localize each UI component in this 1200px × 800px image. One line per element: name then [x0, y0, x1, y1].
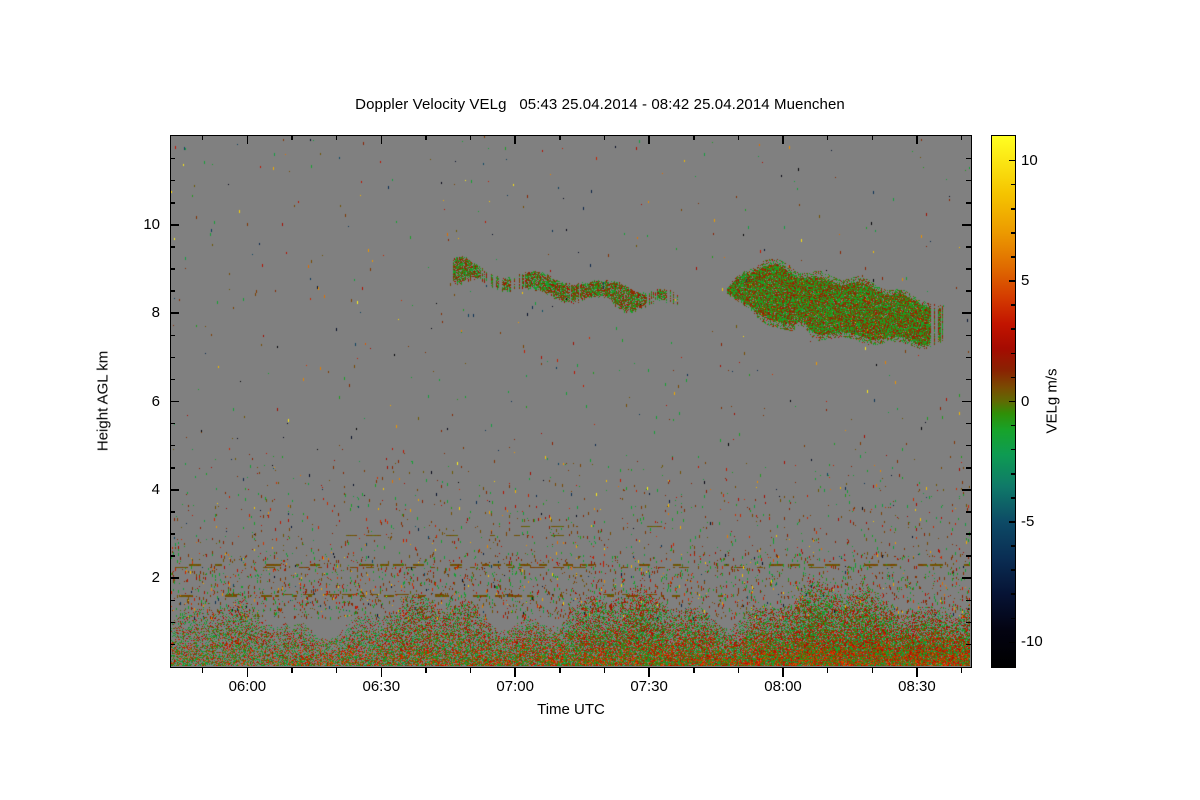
colorbar-minor-tick — [1011, 256, 1016, 258]
y-axis-minor-tick — [170, 423, 175, 425]
colorbar-minor-tick — [1011, 473, 1016, 475]
y-axis-tick-right — [962, 312, 971, 314]
y-axis-minor-tick — [170, 268, 175, 270]
colorbar-minor-tick — [1011, 328, 1016, 330]
colorbar-tick-label: -5 — [1021, 513, 1034, 530]
x-tick-label: 07:30 — [594, 678, 704, 695]
y-axis-minor-tick-right — [966, 246, 971, 248]
y-axis-minor-tick-right — [966, 158, 971, 160]
x-axis-minor-tick — [336, 668, 338, 673]
y-axis-minor-tick-right — [966, 357, 971, 359]
x-axis-minor-tick — [291, 668, 293, 673]
x-axis-minor-tick — [425, 668, 427, 673]
colorbar-minor-tick — [1011, 353, 1016, 355]
x-axis-minor-tick — [961, 668, 963, 673]
y-axis-minor-tick — [170, 622, 175, 624]
y-axis-minor-tick — [170, 290, 175, 292]
x-axis-tick — [648, 668, 650, 677]
colorbar-minor-tick — [1011, 618, 1016, 620]
x-axis-minor-tick-top — [872, 135, 874, 140]
y-axis-tick — [170, 224, 179, 226]
y-axis-minor-tick-right — [966, 379, 971, 381]
x-axis-minor-tick — [470, 668, 472, 673]
y-axis-minor-tick — [170, 335, 175, 337]
colorbar-tick — [1009, 401, 1016, 403]
x-axis-minor-tick-top — [827, 135, 829, 140]
page-title: Doppler Velocity VELg 05:43 25.04.2014 -… — [0, 96, 1200, 113]
colorbar-minor-tick — [1011, 232, 1016, 234]
colorbar-minor-tick — [1011, 593, 1016, 595]
colorbar-minor-tick — [1011, 184, 1016, 186]
x-axis-tick-top — [648, 135, 650, 144]
x-axis-tick — [916, 668, 918, 677]
y-axis-label: Height AGL km — [95, 351, 112, 451]
x-tick-label: 06:30 — [326, 678, 436, 695]
x-axis-tick — [514, 668, 516, 677]
y-axis-minor-tick-right — [966, 600, 971, 602]
colorbar-tick-label: 5 — [1021, 272, 1029, 289]
x-axis-minor-tick — [693, 668, 695, 673]
y-axis-minor-tick — [170, 180, 175, 182]
x-axis-minor-tick — [872, 668, 874, 673]
y-axis-minor-tick — [170, 357, 175, 359]
x-axis-minor-tick-top — [604, 135, 606, 140]
colorbar-tick — [1009, 160, 1016, 162]
x-axis-minor-tick-top — [202, 135, 204, 140]
y-axis-minor-tick — [170, 511, 175, 513]
y-axis-tick-right — [962, 224, 971, 226]
y-axis-minor-tick-right — [966, 555, 971, 557]
plot-area[interactable] — [170, 135, 972, 668]
x-tick-label: 08:00 — [728, 678, 838, 695]
y-axis-tick — [170, 577, 179, 579]
y-tick-label: 10 — [100, 216, 160, 233]
colorbar-minor-tick — [1011, 377, 1016, 379]
x-axis-tick-top — [916, 135, 918, 144]
y-axis-minor-tick — [170, 600, 175, 602]
radar-heatmap-canvas[interactable] — [171, 136, 970, 666]
y-axis-minor-tick — [170, 445, 175, 447]
x-axis-minor-tick-top — [336, 135, 338, 140]
y-tick-label: 8 — [100, 304, 160, 321]
x-axis-tick-top — [381, 135, 383, 144]
x-axis-minor-tick — [738, 668, 740, 673]
y-axis-minor-tick — [170, 379, 175, 381]
y-axis-minor-tick-right — [966, 180, 971, 182]
y-axis-minor-tick-right — [966, 533, 971, 535]
x-axis-tick — [782, 668, 784, 677]
x-axis-tick — [381, 668, 383, 677]
x-axis-minor-tick — [827, 668, 829, 673]
colorbar-tick-label: -10 — [1021, 633, 1043, 650]
y-axis-minor-tick-right — [966, 644, 971, 646]
y-axis-minor-tick — [170, 467, 175, 469]
x-axis-minor-tick — [604, 668, 606, 673]
x-axis-minor-tick — [559, 668, 561, 673]
doppler-velocity-figure: Doppler Velocity VELg 05:43 25.04.2014 -… — [0, 0, 1200, 800]
y-axis-minor-tick — [170, 202, 175, 204]
x-axis-minor-tick-top — [738, 135, 740, 140]
x-axis-minor-tick-top — [425, 135, 427, 140]
x-axis-minor-tick-top — [470, 135, 472, 140]
y-axis-minor-tick-right — [966, 445, 971, 447]
x-axis-minor-tick-top — [693, 135, 695, 140]
y-axis-minor-tick-right — [966, 511, 971, 513]
colorbar-minor-tick — [1011, 304, 1016, 306]
x-tick-label: 08:30 — [862, 678, 972, 695]
y-axis-tick-right — [962, 489, 971, 491]
x-axis-tick — [247, 668, 249, 677]
colorbar-tick — [1009, 521, 1016, 523]
x-axis-minor-tick — [202, 668, 204, 673]
y-axis-minor-tick — [170, 644, 175, 646]
y-axis-minor-tick-right — [966, 622, 971, 624]
colorbar-label: VELg m/s — [1044, 368, 1061, 433]
y-axis-minor-tick-right — [966, 335, 971, 337]
x-axis-tick-top — [782, 135, 784, 144]
y-axis-minor-tick — [170, 555, 175, 557]
y-axis-minor-tick-right — [966, 467, 971, 469]
x-axis-minor-tick-top — [559, 135, 561, 140]
y-axis-tick-right — [962, 577, 971, 579]
colorbar-minor-tick — [1011, 497, 1016, 499]
x-axis-minor-tick-top — [961, 135, 963, 140]
y-axis-tick — [170, 401, 179, 403]
x-axis-tick-top — [247, 135, 249, 144]
colorbar-minor-tick — [1011, 208, 1016, 210]
x-axis-label: Time UTC — [537, 701, 605, 718]
colorbar-tick — [1009, 642, 1016, 644]
y-tick-label: 2 — [100, 569, 160, 586]
y-axis-minor-tick — [170, 533, 175, 535]
colorbar-minor-tick — [1011, 449, 1016, 451]
colorbar-minor-tick — [1011, 425, 1016, 427]
y-axis-minor-tick-right — [966, 268, 971, 270]
x-tick-label: 06:00 — [192, 678, 302, 695]
x-axis-minor-tick-top — [291, 135, 293, 140]
y-tick-label: 4 — [100, 481, 160, 498]
x-axis-tick-top — [514, 135, 516, 144]
y-axis-tick — [170, 312, 179, 314]
y-axis-minor-tick — [170, 158, 175, 160]
y-axis-minor-tick-right — [966, 423, 971, 425]
x-tick-label: 07:00 — [460, 678, 570, 695]
y-axis-minor-tick — [170, 246, 175, 248]
colorbar-minor-tick — [1011, 569, 1016, 571]
colorbar-minor-tick — [1011, 545, 1016, 547]
y-axis-tick — [170, 489, 179, 491]
colorbar-tick — [1009, 280, 1016, 282]
y-axis-minor-tick-right — [966, 290, 971, 292]
y-axis-tick-right — [962, 401, 971, 403]
colorbar-tick-label: 10 — [1021, 152, 1038, 169]
colorbar-tick-label: 0 — [1021, 393, 1029, 410]
y-axis-minor-tick-right — [966, 202, 971, 204]
